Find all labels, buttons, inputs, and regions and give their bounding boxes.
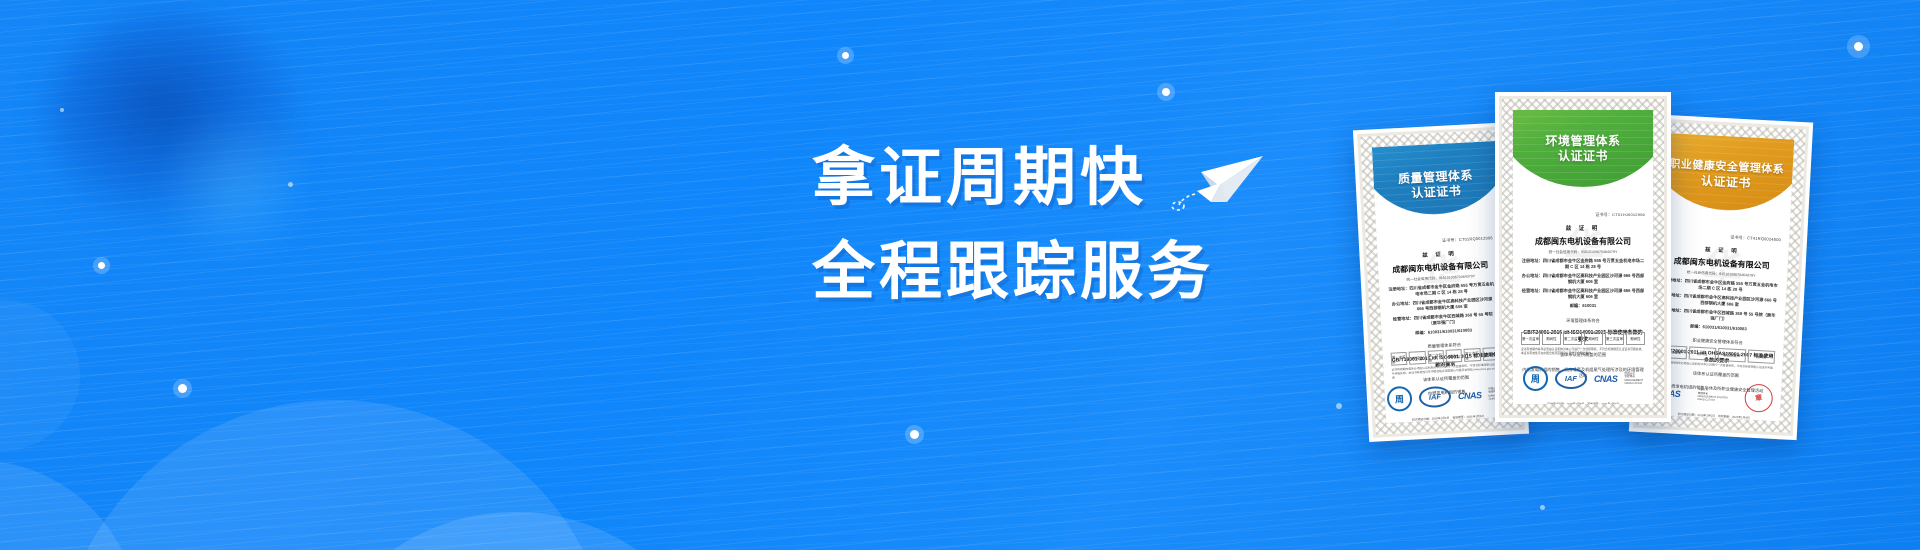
certificate-issue-dates: 初次颁证日期：2018年1月5日 有效期至：2021年1月4日 bbox=[1521, 402, 1645, 404]
certificate-number: 证书号：CT01RQ0012906 bbox=[1442, 235, 1493, 244]
issue-date: 初次颁证日期：2018年1月5日 bbox=[1547, 402, 1584, 404]
audit-cell: 第一次监审 bbox=[1391, 352, 1408, 366]
certificate-issue-dates: 初次颁证日期：2018年1月5日 有效期至：2021年1月4日 bbox=[1656, 411, 1772, 421]
headline-line-2: 全程跟踪服务 bbox=[812, 234, 1332, 310]
audit-cell: 期间性 bbox=[1409, 351, 1426, 365]
cnas-seal-caption: 中国认可管理体系MANAGEMENTCNAS-C174-M bbox=[1624, 372, 1643, 386]
audit-cell: 期间性 bbox=[1747, 349, 1775, 363]
decorative-dot bbox=[1854, 42, 1863, 51]
audit-cell: 第三次监审 bbox=[1464, 348, 1481, 362]
headline-block: 拿证周期快 全程跟踪服务 bbox=[812, 140, 1332, 310]
certificate-attest-label: 兹 证 明 bbox=[1521, 224, 1645, 232]
headline-line-1: 拿证周期快 bbox=[812, 140, 1147, 216]
audit-cell: 期间性 bbox=[1446, 349, 1463, 363]
certificate-seal-row: 周 IAF CNAS 中国认可管理体系MANAGEMENTCNAS-C174-M bbox=[1521, 366, 1645, 391]
promo-banner: 拿证周期快 全程跟踪服务 bbox=[0, 0, 1920, 550]
decorative-dot bbox=[98, 262, 105, 269]
certificate-company-name: 成都闽东电机设备有限公司 bbox=[1521, 236, 1645, 247]
certificate-system-label: 环境管理体系符合 bbox=[1521, 318, 1645, 324]
audit-cell: 第三次监审 bbox=[1718, 348, 1746, 362]
decorative-dot bbox=[1540, 505, 1545, 510]
certificate-number: 证书号：CT01HJ0012906 bbox=[1595, 212, 1645, 218]
certificate-header-band: 职业健康安全管理体系 认证证书 bbox=[1658, 133, 1795, 232]
audit-cell: 期间性 bbox=[1542, 332, 1561, 345]
cnas-seal-icon: CNAS bbox=[1458, 390, 1482, 401]
certificate-footnote: 证书有效期内每年必须由认证机构对本公司进行一次监督审核，不符合标准规定认证证书可… bbox=[1521, 347, 1645, 355]
certificates-group: 华 质量管理体系 认证证书 证书号：CT01RQ0012906 兹 证 明 bbox=[1355, 70, 1915, 490]
cnca-seal-icon: 周 bbox=[1386, 386, 1412, 412]
certificate-title-line-1: 环境管理体系 bbox=[1513, 134, 1653, 149]
certificate-header-band: 质量管理体系 认证证书 bbox=[1372, 141, 1500, 235]
certificate-seal-row: CNAS 中国认可 管理体系 MANAGEMENT SYSTEM CNAS-C1… bbox=[1656, 379, 1773, 413]
background-circle-small bbox=[0, 300, 80, 450]
decorative-dot bbox=[178, 384, 187, 393]
certificate-seal-row: 周 IAF CNAS 中国认可管理体系MANAGEMENTCNAS-C174-M bbox=[1392, 381, 1501, 412]
cnas-line-4: CNAS-C174-M bbox=[1697, 398, 1714, 402]
certificate-audit-table: 第一次监审 期间性 第二次监审 期间性 第三次监审 期间性 bbox=[1521, 332, 1645, 345]
expiry-date: 有效期至：2021年1月4日 bbox=[1452, 414, 1484, 420]
certificate-title-line-2: 认证证书 bbox=[1513, 149, 1653, 164]
certificate-address-3: 经营地址：四川省成都市金牛区高科技产业园区沙河源 666 号西部钢机大厦 606… bbox=[1521, 288, 1645, 300]
issue-date: 初次颁证日期：2018年1月5日 bbox=[1678, 412, 1715, 418]
iaf-seal-icon: IAF bbox=[1418, 386, 1451, 409]
decorative-dot bbox=[842, 52, 849, 59]
headline-row-primary: 拿证周期快 bbox=[812, 140, 1332, 216]
certificate-credit-code: 统一社会信用代码：91510100670464079Y bbox=[1521, 250, 1645, 255]
audit-cell: 第一次监审 bbox=[1521, 332, 1540, 345]
certificate-issue-dates: 初次颁证日期：2018年1月5日 有效期至：2021年1月4日 bbox=[1394, 413, 1502, 423]
cnas-seal-caption: 中国认可 管理体系 MANAGEMENT SYSTEM CNAS-C174-M bbox=[1697, 388, 1728, 403]
certificate-page: 华 环境管理体系 认证证书 证书号：CT01HJ0012906 兹 证 明 bbox=[1513, 110, 1653, 404]
certificate-attest-label: 兹 证 明 bbox=[1385, 247, 1493, 261]
certificate-page: 华 质量管理体系 认证证书 证书号：CT01RQ0012906 兹 证 明 bbox=[1372, 141, 1510, 423]
audit-cell: 期间性 bbox=[1626, 332, 1645, 345]
audit-cell: 期间性 bbox=[1584, 332, 1603, 345]
background-glow-blob-secondary bbox=[150, 110, 320, 260]
paper-plane-icon bbox=[1171, 150, 1267, 212]
certificate-header-band: 环境管理体系 认证证书 bbox=[1513, 110, 1653, 206]
certificate-inner-frame: 华 环境管理体系 认证证书 证书号：CT01HJ0012906 兹 证 明 bbox=[1499, 96, 1667, 418]
decorative-dot bbox=[60, 108, 64, 112]
expiry-date: 有效期至：2021年1月4日 bbox=[1587, 402, 1619, 404]
cnca-seal-icon: 周 bbox=[1523, 366, 1548, 391]
certificate-address-1: 注册地址：四川省成都市金牛区金府路 555 号万贯五金机电市场二期 C 区 14… bbox=[1521, 258, 1645, 270]
decorative-dot bbox=[1336, 403, 1342, 409]
certificate-body: 兹 证 明 成都闽东电机设备有限公司 统一社会信用代码：915101006704… bbox=[1521, 224, 1645, 379]
certificate-postcode: 邮编：610031 bbox=[1521, 303, 1645, 309]
certificate-title: 环境管理体系 认证证书 bbox=[1513, 134, 1653, 164]
audit-cell: 期间性 bbox=[1688, 346, 1716, 360]
red-company-stamp-icon: 章 bbox=[1743, 382, 1775, 414]
decorative-dot bbox=[1162, 88, 1170, 96]
issue-date: 初次颁证日期：2018年1月5日 bbox=[1412, 416, 1449, 422]
audit-cell: 第三次监审 bbox=[1605, 332, 1624, 345]
audit-cell: 第二次监审 bbox=[1563, 332, 1582, 345]
decorative-dot bbox=[910, 430, 919, 439]
certificate-environment[interactable]: 华 环境管理体系 认证证书 证书号：CT01HJ0012906 兹 证 明 bbox=[1495, 92, 1671, 422]
certificate-address-2: 办公地址：四川省成都市金牛区高科技产业园区沙河源 666 号西部钢机大厦 606… bbox=[1521, 273, 1645, 285]
cnas-seal-icon: CNAS bbox=[1594, 374, 1618, 384]
decorative-dot bbox=[288, 182, 293, 187]
expiry-date: 有效期至：2021年1月4日 bbox=[1718, 414, 1750, 420]
audit-cell: 第二次监审 bbox=[1427, 350, 1444, 364]
iaf-seal-icon: IAF bbox=[1555, 368, 1587, 389]
